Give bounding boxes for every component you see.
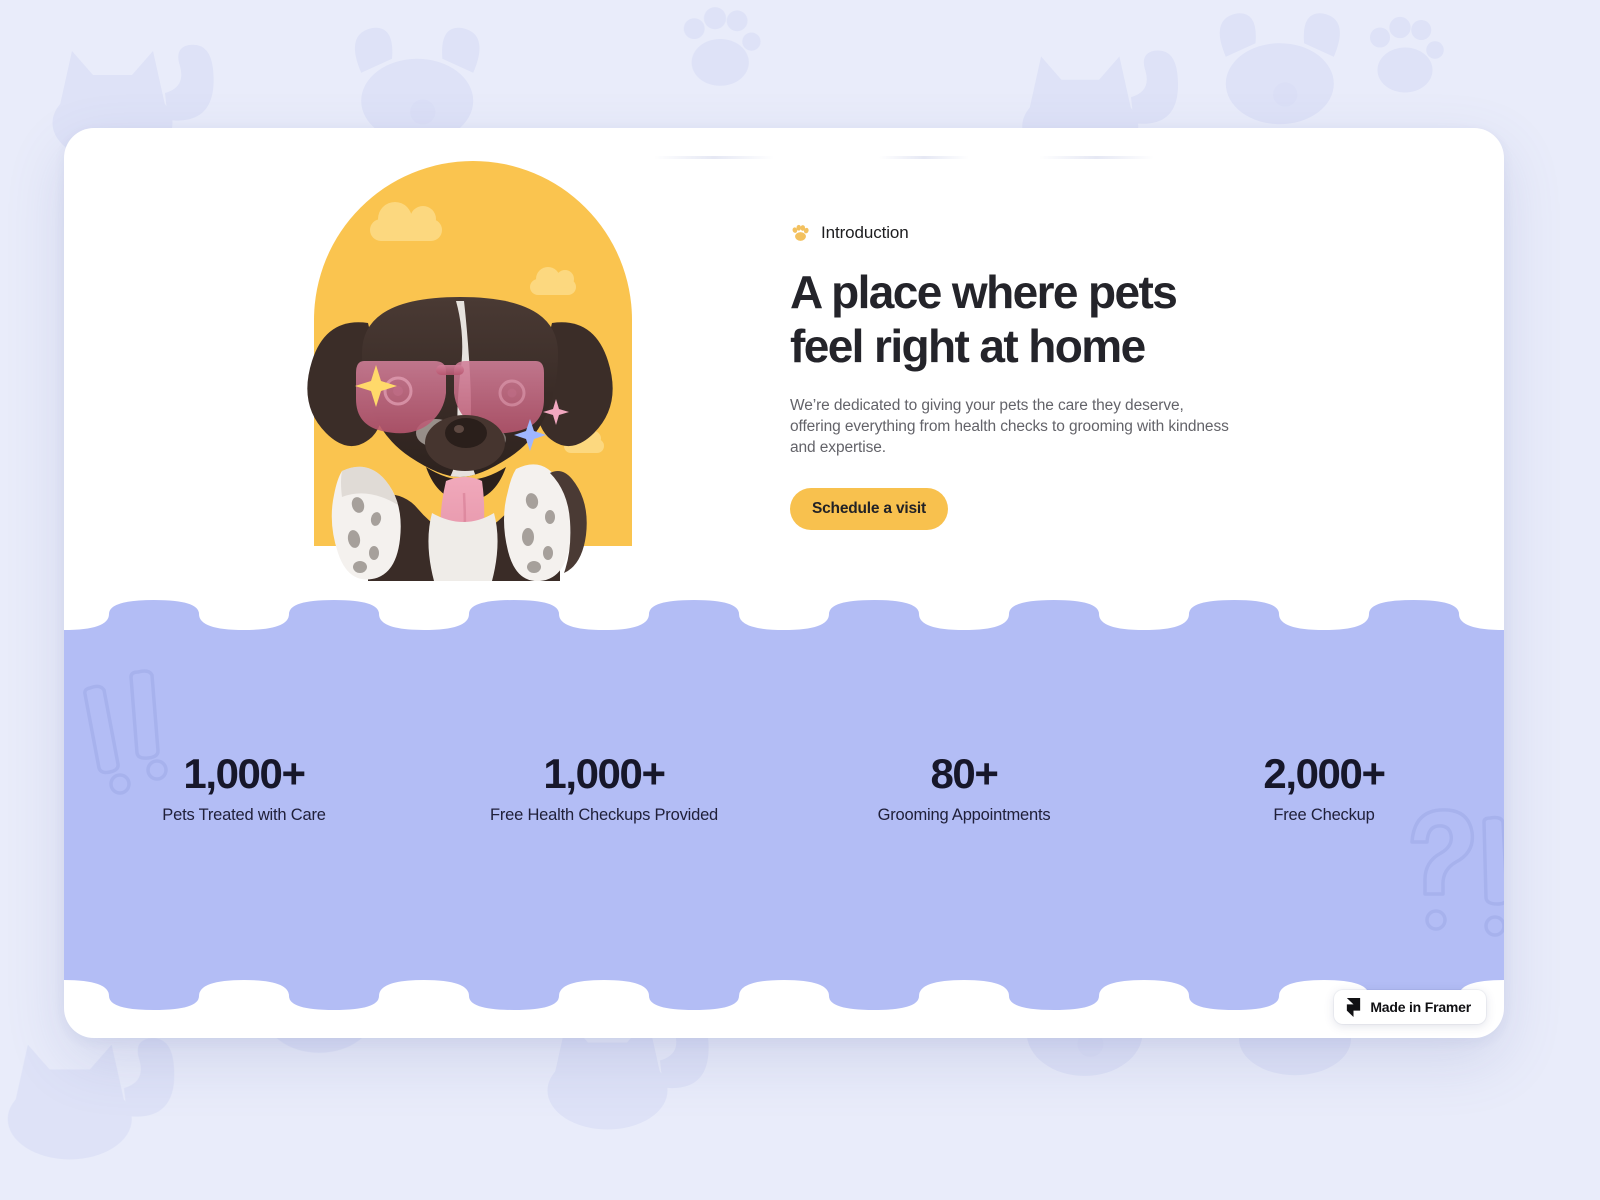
stat-item: 1,000+ Pets Treated with Care — [64, 750, 424, 825]
page-card: Introduction A place where pets feel rig… — [64, 128, 1504, 1038]
stats-band: 1,000+ Pets Treated with Care 1,000+ Fre… — [64, 600, 1504, 1038]
stat-value: 1,000+ — [424, 750, 784, 798]
stat-item: 80+ Grooming Appointments — [784, 750, 1144, 825]
stat-item: 1,000+ Free Health Checkups Provided — [424, 750, 784, 825]
introduction-section: Introduction A place where pets feel rig… — [64, 128, 1504, 638]
paw-print-icon — [790, 222, 811, 243]
introduction-copy: Introduction A place where pets feel rig… — [790, 222, 1260, 530]
stat-label: Free Checkup — [1144, 806, 1504, 825]
stat-label: Pets Treated with Care — [64, 806, 424, 825]
made-in-framer-badge[interactable]: Made in Framer — [1334, 990, 1486, 1024]
schedule-a-visit-button[interactable]: Schedule a visit — [790, 488, 948, 530]
wave-bottom-edge — [64, 962, 1504, 1010]
hero-description: We’re dedicated to giving your pets the … — [790, 395, 1232, 458]
dog-illustration — [250, 161, 670, 581]
stat-label: Grooming Appointments — [784, 806, 1144, 825]
page-title: A place where pets feel right at home — [790, 265, 1260, 373]
stat-value: 80+ — [784, 750, 1144, 798]
stat-label: Free Health Checkups Provided — [424, 806, 784, 825]
eyebrow-label: Introduction — [821, 223, 909, 243]
framer-badge-label: Made in Framer — [1370, 999, 1471, 1015]
stat-value: 1,000+ — [64, 750, 424, 798]
cloud-icon — [370, 219, 442, 241]
stat-item: 2,000+ Free Checkup — [1144, 750, 1504, 825]
dog-photo — [250, 257, 670, 581]
framer-logo-icon — [1346, 998, 1361, 1017]
stats-row: 1,000+ Pets Treated with Care 1,000+ Fre… — [64, 750, 1504, 825]
eyebrow: Introduction — [790, 222, 1260, 243]
stat-value: 2,000+ — [1144, 750, 1504, 798]
wave-top-edge — [64, 600, 1504, 648]
